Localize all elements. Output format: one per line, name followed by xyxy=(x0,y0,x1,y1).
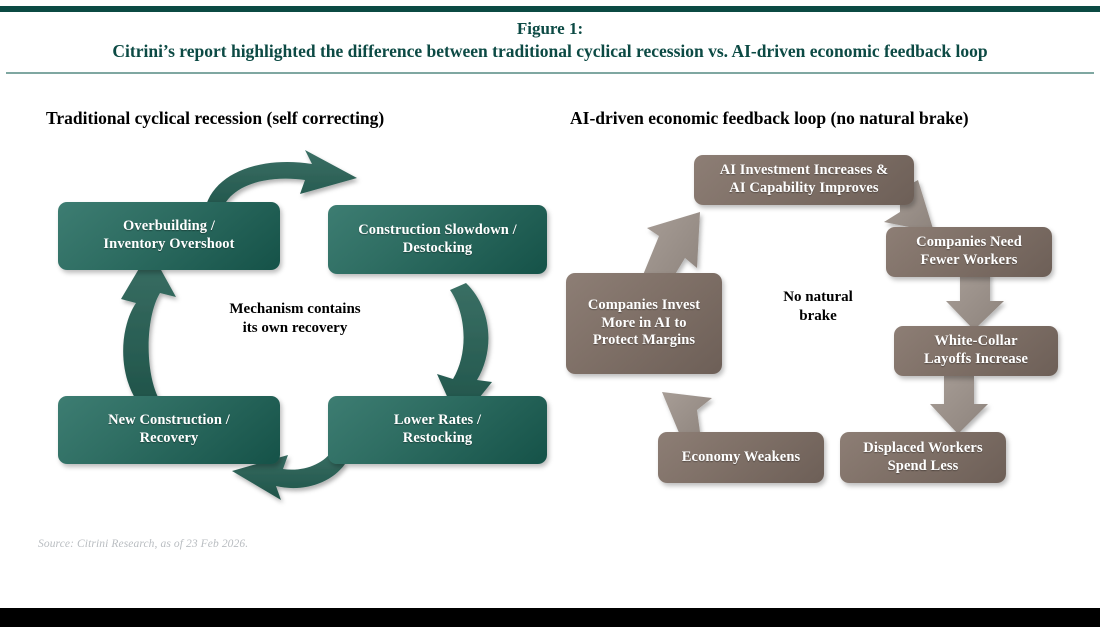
left-centre-caption-line1: Mechanism contains xyxy=(229,301,360,317)
node-companies-invest-line1: Companies Invest xyxy=(580,297,708,315)
node-fewer-workers-text: Companies Need Fewer Workers xyxy=(900,234,1038,269)
node-fewer-workers-line1: Companies Need xyxy=(908,234,1030,252)
node-white-collar-layoffs[interactable]: White-Collar Layoffs Increase xyxy=(894,326,1058,376)
node-fewer-workers-line2: Fewer Workers xyxy=(908,252,1030,270)
node-white-collar-layoffs-line2: Layoffs Increase xyxy=(916,351,1036,369)
top-accent-rule xyxy=(0,6,1100,12)
node-new-construction-line1: New Construction / xyxy=(100,412,238,430)
source-note: Source: Citrini Research, as of 23 Feb 2… xyxy=(38,538,248,550)
node-overbuilding-line1: Overbuilding / xyxy=(95,218,242,236)
node-new-construction-line2: Recovery xyxy=(100,430,238,448)
right-centre-caption: No natural brake xyxy=(748,288,888,326)
right-centre-caption-line2: brake xyxy=(799,308,837,324)
node-companies-invest-line2: More in AI to xyxy=(580,315,708,333)
arrow-white-collar-to-displaced-workers xyxy=(930,376,988,434)
header-underline-rule xyxy=(6,72,1094,74)
node-lower-rates-line1: Lower Rates / xyxy=(386,412,489,430)
node-new-construction-text: New Construction / Recovery xyxy=(92,412,246,447)
node-ai-investment[interactable]: AI Investment Increases & AI Capability … xyxy=(694,155,914,205)
node-companies-invest-line3: Protect Margins xyxy=(580,332,708,350)
node-displaced-workers-line2: Spend Less xyxy=(855,458,990,476)
node-overbuilding[interactable]: Overbuilding / Inventory Overshoot xyxy=(58,202,280,270)
node-white-collar-layoffs-text: White-Collar Layoffs Increase xyxy=(908,333,1044,368)
node-overbuilding-line2: Inventory Overshoot xyxy=(95,236,242,254)
node-overbuilding-text: Overbuilding / Inventory Overshoot xyxy=(87,218,250,253)
bottom-black-bar xyxy=(0,608,1100,627)
node-lower-rates[interactable]: Lower Rates / Restocking xyxy=(328,396,547,464)
node-construction-slowdown[interactable]: Construction Slowdown / Destocking xyxy=(328,205,547,274)
node-ai-investment-line1: AI Investment Increases & xyxy=(712,162,897,180)
arrow-new-construction-to-overbuilding xyxy=(121,250,176,408)
node-construction-slowdown-line1: Construction Slowdown / xyxy=(350,222,525,240)
arrow-fewer-workers-to-white-collar xyxy=(946,272,1004,330)
node-companies-invest[interactable]: Companies Invest More in AI to Protect M… xyxy=(566,273,722,374)
right-panel-heading: AI-driven economic feedback loop (no nat… xyxy=(570,108,969,129)
right-centre-caption-line1: No natural xyxy=(783,289,853,305)
node-white-collar-layoffs-line1: White-Collar xyxy=(916,333,1036,351)
node-economy-weakens[interactable]: Economy Weakens xyxy=(658,432,824,483)
node-lower-rates-text: Lower Rates / Restocking xyxy=(378,412,497,447)
left-centre-caption: Mechanism contains its own recovery xyxy=(200,300,390,338)
node-displaced-workers-line1: Displaced Workers xyxy=(855,440,990,458)
left-panel-heading: Traditional cyclical recession (self cor… xyxy=(46,108,384,129)
figure-header: Figure 1: Citrini’s report highlighted t… xyxy=(0,18,1100,62)
node-new-construction[interactable]: New Construction / Recovery xyxy=(58,396,280,464)
node-construction-slowdown-line2: Destocking xyxy=(350,240,525,258)
left-centre-caption-line2: its own recovery xyxy=(243,320,348,336)
node-companies-invest-text: Companies Invest More in AI to Protect M… xyxy=(572,297,716,350)
figure-number: Figure 1: xyxy=(0,18,1100,40)
node-ai-investment-line2: AI Capability Improves xyxy=(712,180,897,198)
node-fewer-workers[interactable]: Companies Need Fewer Workers xyxy=(886,227,1052,277)
node-lower-rates-line2: Restocking xyxy=(386,430,489,448)
right-cycle-arrows xyxy=(0,0,1100,627)
node-economy-weakens-text: Economy Weakens xyxy=(666,449,816,467)
node-economy-weakens-line1: Economy Weakens xyxy=(674,449,808,467)
node-displaced-workers-text: Displaced Workers Spend Less xyxy=(847,440,998,475)
node-displaced-workers[interactable]: Displaced Workers Spend Less xyxy=(840,432,1006,483)
left-cycle-arrows xyxy=(0,0,1100,627)
node-construction-slowdown-text: Construction Slowdown / Destocking xyxy=(342,222,533,257)
figure-subtitle: Citrini’s report highlighted the differe… xyxy=(0,40,1100,62)
node-ai-investment-text: AI Investment Increases & AI Capability … xyxy=(704,162,905,197)
